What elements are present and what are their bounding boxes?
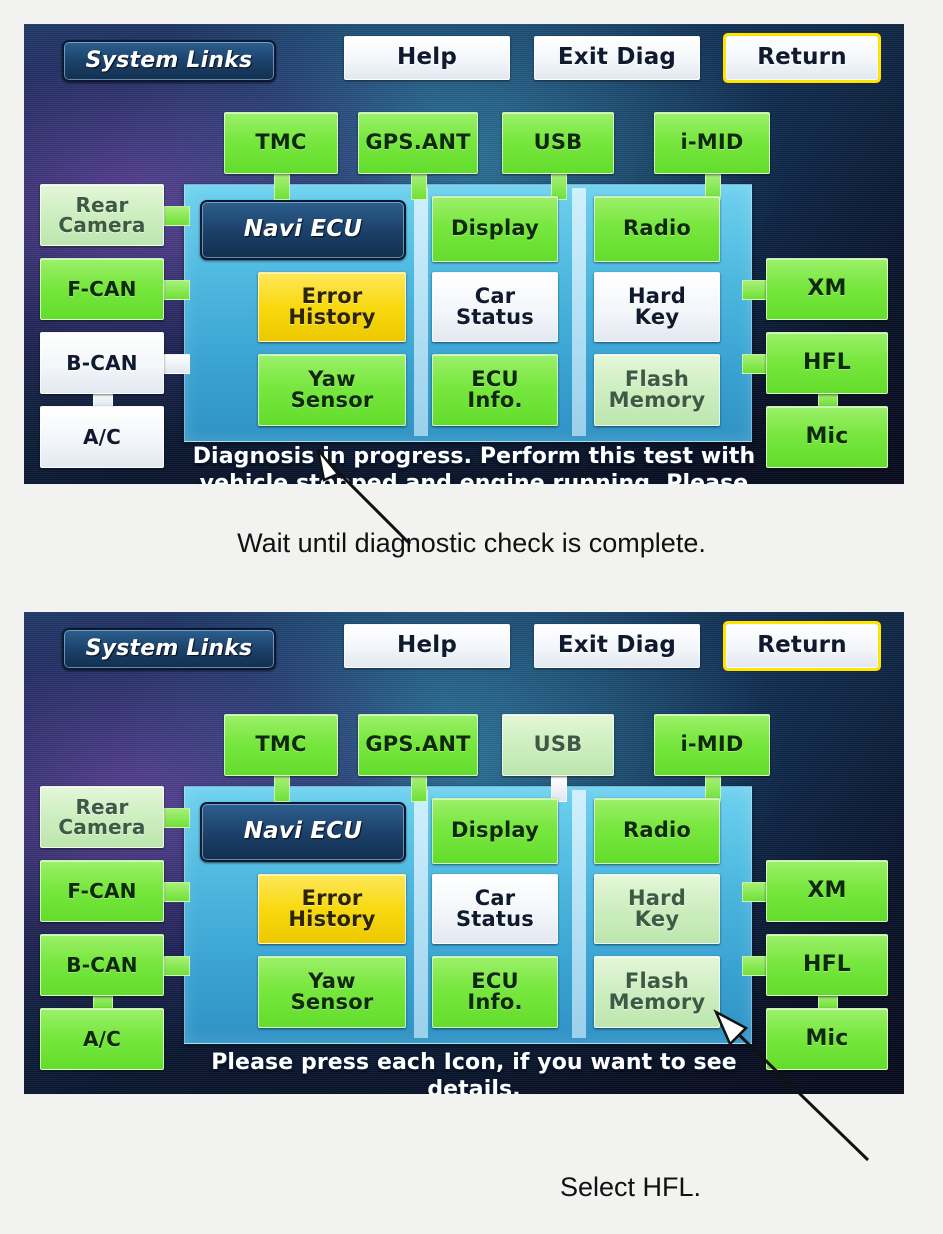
screen-2-grid-error-history[interactable]: ErrorHistory: [258, 874, 406, 944]
screen-2-grid-hard-key[interactable]: HardKey: [594, 874, 720, 944]
screen-2-left-f-can[interactable]: F-CAN: [40, 860, 164, 922]
screen-1-top-gps-ant[interactable]: GPS.ANT: [358, 112, 478, 174]
screen-2-grid-car-status[interactable]: CarStatus: [432, 874, 558, 944]
screen-2-left-b-can[interactable]: B-CAN: [40, 934, 164, 996]
screen-2-connector-hfl: [742, 956, 768, 976]
screen-2-column-divider-0: [414, 790, 428, 1038]
screen-1-connector-b-can: [164, 354, 190, 374]
caption-select-hfl: Select HFL.: [560, 1172, 860, 1203]
screen-1-top-tmc[interactable]: TMC: [224, 112, 338, 174]
screen-1-connector-f-can: [164, 280, 190, 300]
screen-2-left-rear-camera[interactable]: RearCamera: [40, 786, 164, 848]
screen-1-connector-rear-camera: [164, 206, 190, 226]
screen-1-grid-display[interactable]: Display: [432, 196, 558, 262]
screen-2-connector-b-can: [164, 956, 190, 976]
screen-1-connector-tmc: [274, 174, 290, 200]
screen-1-connector-gps-ant: [411, 174, 427, 200]
screen-1-grid-navi-ecu[interactable]: Navi ECU: [200, 200, 406, 260]
screen-2-top-i-mid[interactable]: i-MID: [654, 714, 770, 776]
screen-2-left-ac[interactable]: A/C: [40, 1008, 164, 1070]
diagnostic-screen-2: System LinksHelpExit DiagReturnTMCGPS.AN…: [24, 612, 904, 1094]
screen-2-right-hfl[interactable]: HFL: [766, 934, 888, 996]
screen-1-left-b-can[interactable]: B-CAN: [40, 332, 164, 394]
screen-2-grid-ecu-info[interactable]: ECUInfo.: [432, 956, 558, 1028]
screen-1-connector-xm: [742, 280, 768, 300]
screen-2-toolbar-exit-diag[interactable]: Exit Diag: [534, 624, 700, 668]
screen-2-grid-display[interactable]: Display: [432, 798, 558, 864]
screen-1-top-usb[interactable]: USB: [502, 112, 614, 174]
screen-2-grid-navi-ecu[interactable]: Navi ECU: [200, 802, 406, 862]
screen-1-toolbar-return[interactable]: Return: [726, 36, 878, 80]
screen-1-left-rear-camera[interactable]: RearCamera: [40, 184, 164, 246]
screen-1-right-hfl[interactable]: HFL: [766, 332, 888, 394]
screen-2-connector-rear-camera: [164, 808, 190, 828]
screen-2-connector-gps-ant: [411, 776, 427, 802]
screen-1-connector-hfl: [742, 354, 768, 374]
screen-1-column-divider-0: [414, 188, 428, 436]
screen-1-left-ac[interactable]: A/C: [40, 406, 164, 468]
screen-1-grid-radio[interactable]: Radio: [594, 196, 720, 262]
screen-2-right-xm[interactable]: XM: [766, 860, 888, 922]
screen-2-toolbar-system-links[interactable]: System Links: [62, 628, 276, 670]
screen-1-column-divider-1: [572, 188, 586, 436]
screen-1-grid-error-history[interactable]: ErrorHistory: [258, 272, 406, 342]
screen-2-column-divider-1: [572, 790, 586, 1038]
screen-1-toolbar-system-links[interactable]: System Links: [62, 40, 276, 82]
screen-1-grid-flash-memory[interactable]: FlashMemory: [594, 354, 720, 426]
screen-2-toolbar-help[interactable]: Help: [344, 624, 510, 668]
screen-2-grid-radio[interactable]: Radio: [594, 798, 720, 864]
screen-2-right-mic[interactable]: Mic: [766, 1008, 888, 1070]
screen-1-right-xm[interactable]: XM: [766, 258, 888, 320]
screen-2-connector-tmc: [274, 776, 290, 802]
screen-2-top-usb[interactable]: USB: [502, 714, 614, 776]
screen-1-top-i-mid[interactable]: i-MID: [654, 112, 770, 174]
screen-1-left-f-can[interactable]: F-CAN: [40, 258, 164, 320]
screen-2-top-tmc[interactable]: TMC: [224, 714, 338, 776]
screen-2-top-gps-ant[interactable]: GPS.ANT: [358, 714, 478, 776]
screen-2-status-message: Please press each Icon, if you want to s…: [174, 1050, 774, 1094]
diagnostic-screen-1: System LinksHelpExit DiagReturnTMCGPS.AN…: [24, 24, 904, 484]
screen-2-grid-yaw-sensor[interactable]: YawSensor: [258, 956, 406, 1028]
screen-1-toolbar-help[interactable]: Help: [344, 36, 510, 80]
screen-1-toolbar-exit-diag[interactable]: Exit Diag: [534, 36, 700, 80]
screen-1-grid-hard-key[interactable]: HardKey: [594, 272, 720, 342]
screen-1-grid-yaw-sensor[interactable]: YawSensor: [258, 354, 406, 426]
caption-wait: Wait until diagnostic check is complete.: [0, 528, 943, 559]
screen-1-right-mic[interactable]: Mic: [766, 406, 888, 468]
screen-1-status-message: Diagnosis in progress. Perform this test…: [174, 444, 774, 484]
screen-1-grid-car-status[interactable]: CarStatus: [432, 272, 558, 342]
screen-2-connector-xm: [742, 882, 768, 902]
screen-1-grid-ecu-info[interactable]: ECUInfo.: [432, 354, 558, 426]
screen-2-toolbar-return[interactable]: Return: [726, 624, 878, 668]
screen-2-connector-f-can: [164, 882, 190, 902]
screen-2-grid-flash-memory[interactable]: FlashMemory: [594, 956, 720, 1028]
